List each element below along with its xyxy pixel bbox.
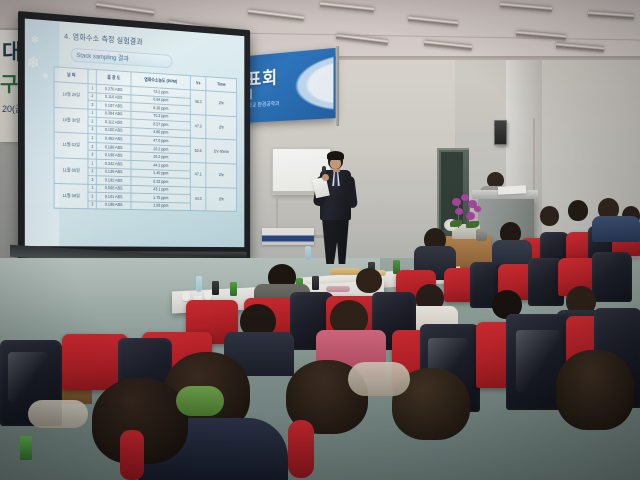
drink-can — [312, 276, 319, 290]
ceiling-light-icon — [248, 9, 304, 23]
cell-no: 2 — [88, 192, 96, 201]
orchid-flower — [452, 198, 461, 206]
ceiling-light-icon — [320, 1, 374, 14]
snowflake-icon: ❄ — [27, 53, 40, 74]
drink-can — [20, 436, 32, 460]
slide-title: 4. 염화수소 측정 실험결과 — [64, 31, 143, 48]
cell-vs: 52.6 — [190, 138, 206, 163]
projection-screen-surface: ❄ ❄ ❄ 4. 염화수소 측정 실험결과 Stack sampling 결과 … — [25, 19, 245, 248]
kettle — [476, 229, 487, 241]
paper-cup — [182, 292, 190, 301]
cell-no: 1 — [88, 134, 96, 143]
ceiling-light-icon — [424, 40, 472, 52]
cell-vs: 48.3 — [190, 90, 206, 115]
slide-data-table: 날 짜 흡 광 도 염화수소농도 (PPM) Vs Time 10월 29일10… — [54, 66, 237, 212]
banner-swoosh-decoration — [286, 50, 334, 119]
projection-screen: ❄ ❄ ❄ 4. 염화수소 측정 실험결과 Stack sampling 결과 … — [18, 11, 250, 261]
cell-no: 3 — [88, 176, 96, 185]
ceiling-light-icon — [588, 10, 634, 20]
audience-body — [592, 216, 640, 242]
col-no — [88, 69, 96, 84]
backpack-strap — [288, 420, 314, 478]
orchid-flower — [455, 208, 463, 215]
audience-head — [540, 206, 559, 226]
orchid-flower — [474, 206, 481, 212]
orchid-flower — [466, 212, 475, 220]
fur-collar — [348, 362, 410, 396]
cell-no: 3 — [88, 201, 96, 209]
cell-no: 1 — [88, 159, 96, 168]
cell-date: 11월 05일 — [54, 158, 88, 184]
cell-no: 3 — [88, 151, 96, 160]
snack-bag — [176, 386, 224, 416]
snowflake-icon: ❄ — [31, 33, 40, 47]
presentation-slide: ❄ ❄ ❄ 4. 염화수소 측정 실험결과 Stack sampling 결과 … — [25, 19, 245, 248]
fur-collar — [28, 400, 88, 428]
orchid-leaf — [450, 220, 462, 227]
wall-cord — [533, 118, 535, 196]
cell-date: 11월 02일 — [54, 132, 88, 158]
audience-head — [568, 200, 588, 221]
cell-no: 2 — [88, 142, 96, 151]
seat-highlight — [516, 330, 560, 392]
ceiling-light-icon — [556, 42, 604, 53]
cell-no: 3 — [88, 126, 96, 135]
orchid-leaf — [466, 221, 479, 228]
auditorium-seat-back — [592, 252, 632, 302]
blue-cabinet — [262, 228, 314, 245]
ceiling-light-icon — [408, 15, 458, 27]
cell-date: 10월 29일 — [54, 82, 88, 109]
wall-speaker-icon — [494, 120, 507, 145]
ceiling-light-icon — [500, 2, 552, 14]
ceiling-light-icon — [96, 2, 154, 17]
cell-ppm: 1.93 ppm — [131, 201, 191, 210]
banner-pole — [336, 46, 339, 126]
col-vs: Vs — [190, 76, 206, 91]
drink-can — [230, 282, 237, 296]
cell-absorbance: 0.198 ABS — [96, 201, 130, 210]
cell-time: 2hr — [206, 187, 236, 212]
presenter-hair — [327, 151, 344, 160]
water-bottle-floor — [305, 246, 311, 260]
cell-date: 10월 30일 — [54, 107, 88, 134]
drink-can — [212, 281, 219, 295]
cell-no: 2 — [88, 167, 96, 176]
backpack-strap — [120, 430, 144, 480]
presenter-hand — [322, 174, 329, 181]
seat-highlight — [8, 352, 48, 402]
cell-time: 1hr 40min — [206, 139, 236, 164]
cell-date: 11월 08일 — [54, 183, 88, 209]
snack-tray — [330, 268, 360, 275]
podium-papers — [498, 185, 526, 194]
audience-head — [556, 350, 634, 430]
lecture-hall-photo: 대 구 · 20(금) 발표회 표회 대구대학교 환경공학과 ❄ ❄ ❄ 4. … — [0, 0, 640, 480]
snack-plate — [326, 286, 350, 292]
paper-cup — [204, 291, 212, 300]
water-bottle — [196, 276, 202, 292]
snowflake-icon: ❄ — [42, 72, 48, 81]
orchid-flower — [461, 194, 469, 201]
audience-head — [356, 268, 382, 293]
table-body: 10월 29일10.276 ABS73.2 ppm48.32hr20.116 A… — [54, 82, 236, 212]
cell-time: 2hr — [206, 91, 236, 117]
cell-time: 2hr — [206, 115, 236, 140]
ceiling-light-icon — [516, 30, 566, 41]
cell-vs: 47.3 — [190, 114, 206, 139]
cell-vs: 44.0 — [190, 187, 206, 211]
cell-no: 1 — [88, 184, 96, 193]
cell-vs: 47.1 — [190, 162, 206, 187]
cell-time: 2hr — [206, 163, 236, 188]
